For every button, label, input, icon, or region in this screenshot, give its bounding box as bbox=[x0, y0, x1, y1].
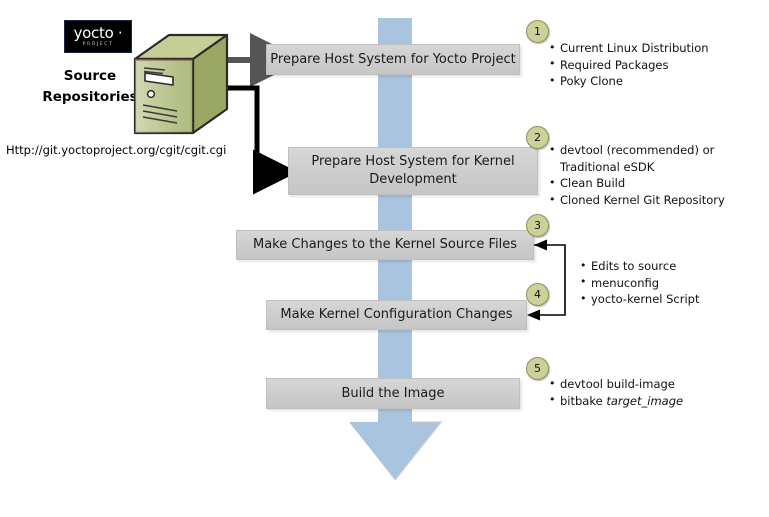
process-box-step2[interactable]: Prepare Host System for Kernel Developme… bbox=[288, 147, 538, 195]
bullets-step5: devtool build-image bitbake target_image bbox=[549, 376, 683, 409]
process-box-step4-label: Make Kernel Configuration Changes bbox=[280, 306, 512, 324]
step-circle-2-number: 2 bbox=[534, 131, 541, 144]
list-item: Clean Build bbox=[549, 175, 725, 192]
list-item: Poky Clone bbox=[549, 73, 709, 90]
process-box-step5-label: Build the Image bbox=[342, 385, 445, 403]
process-box-step3[interactable]: Make Changes to the Kernel Source Files bbox=[236, 230, 534, 260]
list-item: bitbake target_image bbox=[549, 393, 683, 410]
process-box-step5[interactable]: Build the Image bbox=[266, 378, 520, 409]
list-item: Edits to source bbox=[580, 258, 700, 275]
bitbake-prefix: bitbake bbox=[560, 394, 606, 408]
logo-wordmark: yocto · bbox=[74, 26, 123, 41]
process-box-step1-label: Prepare Host System for Yocto Project bbox=[270, 51, 515, 69]
step-circle-2: 2 bbox=[526, 126, 549, 149]
list-item: Cloned Kernel Git Repository bbox=[549, 192, 725, 209]
list-item: yocto-kernel Script bbox=[580, 291, 700, 308]
source-repositories-url: Http://git.yoctoproject.org/cgit/cgit.cg… bbox=[6, 143, 226, 157]
source-repositories-label: Source Repositories bbox=[30, 66, 150, 108]
step-circle-1-number: 1 bbox=[534, 25, 541, 38]
diagram-canvas: yocto · PROJECT Source Repositories Http… bbox=[0, 0, 769, 517]
server-icon bbox=[133, 33, 229, 136]
list-item: Required Packages bbox=[549, 57, 709, 74]
bitbake-target-image: target_image bbox=[606, 394, 683, 408]
list-item: devtool build-image bbox=[549, 376, 683, 393]
list-item: Current Linux Distribution bbox=[549, 40, 709, 57]
list-item: devtool (recommended) or Traditional eSD… bbox=[549, 142, 725, 175]
bullets-step1: Current Linux Distribution Required Pack… bbox=[549, 40, 709, 90]
step-circle-5: 5 bbox=[526, 357, 549, 380]
step-circle-4: 4 bbox=[526, 283, 549, 306]
yocto-project-logo: yocto · PROJECT bbox=[64, 20, 132, 53]
process-box-step3-label: Make Changes to the Kernel Source Files bbox=[253, 236, 517, 254]
step-circle-4-number: 4 bbox=[534, 288, 541, 301]
list-item-line2: Traditional eSDK bbox=[560, 159, 725, 176]
source-label-line1: Source bbox=[30, 66, 150, 87]
process-box-step2-label-line1: Prepare Host System for Kernel bbox=[311, 153, 514, 171]
process-box-step4[interactable]: Make Kernel Configuration Changes bbox=[266, 300, 527, 330]
source-label-line2: Repositories bbox=[30, 87, 150, 108]
process-box-step2-label-line2: Development bbox=[369, 171, 457, 189]
step-circle-5-number: 5 bbox=[534, 362, 541, 375]
step-circle-3: 3 bbox=[526, 214, 549, 237]
logo-subtext: PROJECT bbox=[83, 43, 114, 48]
step-circle-3-number: 3 bbox=[534, 219, 541, 232]
bullets-step2: devtool (recommended) or Traditional eSD… bbox=[549, 142, 725, 209]
process-box-step1[interactable]: Prepare Host System for Yocto Project bbox=[266, 44, 520, 75]
list-item: menuconfig bbox=[580, 275, 700, 292]
step-circle-1: 1 bbox=[526, 20, 549, 43]
arrow-server-to-step2 bbox=[228, 88, 258, 172]
bracket-arrowhead-step3 bbox=[534, 240, 547, 251]
list-item-line1: devtool (recommended) or bbox=[560, 143, 714, 157]
bullets-steps-3-4: Edits to source menuconfig yocto-kernel … bbox=[580, 258, 700, 308]
bracket-arrowhead-step4 bbox=[527, 310, 540, 321]
